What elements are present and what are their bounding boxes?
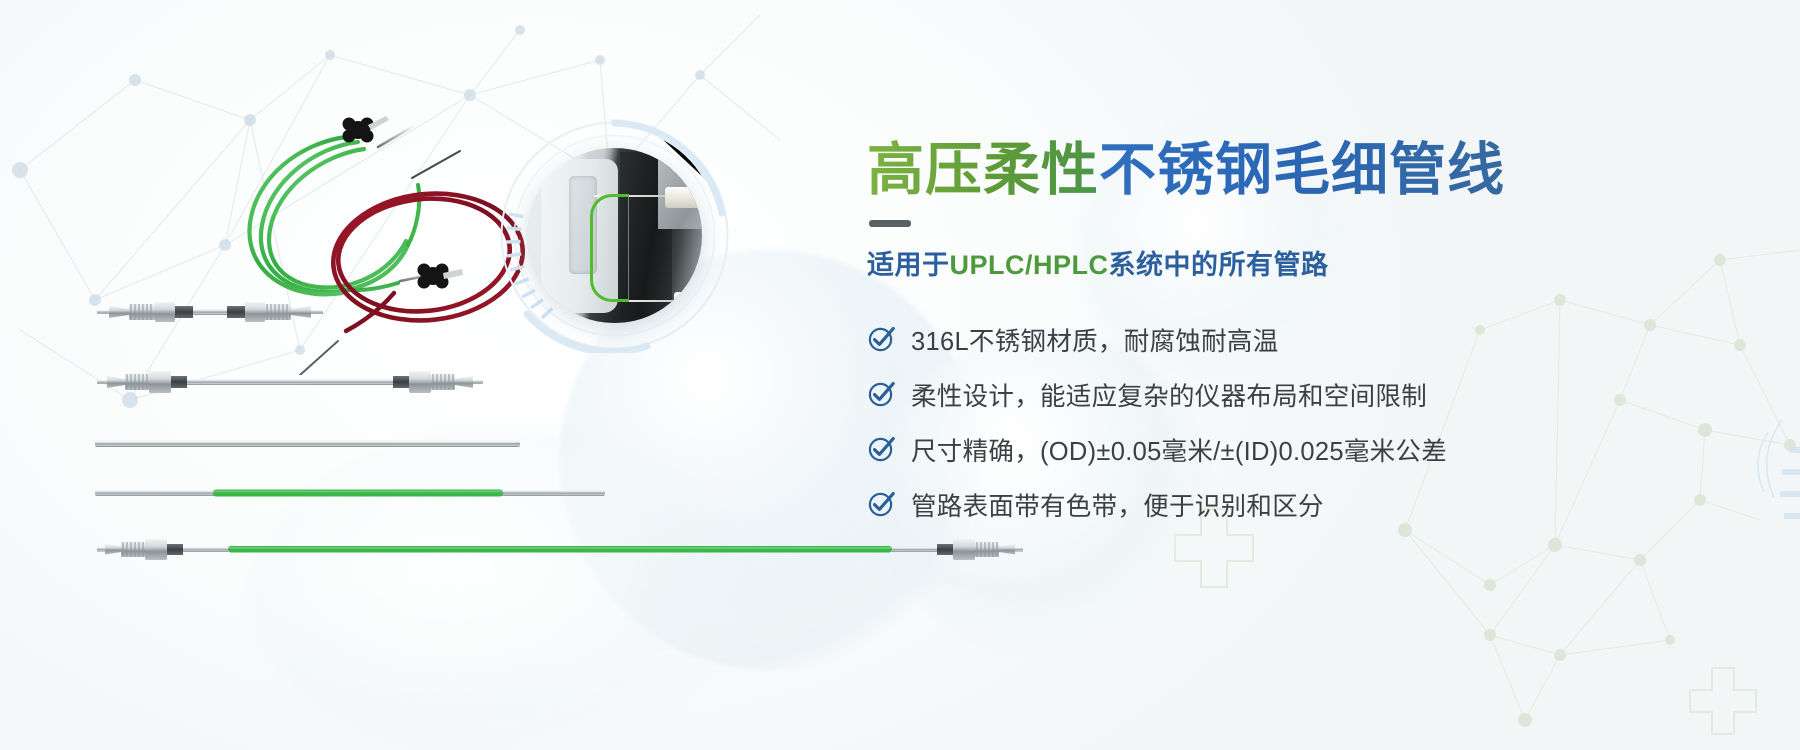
- feature-label: 柔性设计，能适应复杂的仪器布局和空间限制: [911, 376, 1427, 413]
- feature-list: 316L不锈钢材质，耐腐蚀耐高温 柔性设计，能适应复杂的仪器布局和空间限制: [867, 312, 1747, 532]
- check-circle-icon: [867, 433, 897, 463]
- tube-assembly-short-photo: [95, 292, 325, 332]
- feature-item: 316L不锈钢材质，耐腐蚀耐高温: [867, 312, 1747, 367]
- tube-with-green-band-photo: [95, 482, 605, 504]
- product-banner: 高压柔性不锈钢毛细管线 适用于UPLC/HPLC系统中的所有管路 316L不锈钢…: [0, 0, 1800, 750]
- feature-item: 管路表面带有色带，便于识别和区分: [867, 477, 1747, 532]
- feature-label: 管路表面带有色带，便于识别和区分: [911, 486, 1324, 523]
- feature-label: 尺寸精确，(OD)±0.05毫米/±(ID)0.025毫米公差: [911, 431, 1447, 468]
- check-circle-icon: [867, 323, 897, 353]
- tube-assembly-long-photo: [95, 362, 485, 402]
- subtitle-highlight: UPLC/HPLC: [950, 250, 1109, 280]
- tube-assembly-green-band-photo: [95, 528, 1025, 570]
- subtitle-suffix: 系统中的所有管路: [1109, 250, 1329, 280]
- instrument-photo: [527, 148, 702, 323]
- title-divider: [869, 220, 911, 227]
- feature-label: 316L不锈钢材质，耐腐蚀耐高温: [911, 321, 1279, 358]
- title-segment-green: 高压柔性: [867, 138, 1099, 202]
- bare-steel-tube-photo: [95, 432, 520, 454]
- banner-content: 高压柔性不锈钢毛细管线 适用于UPLC/HPLC系统中的所有管路 316L不锈钢…: [867, 140, 1747, 532]
- feature-item: 尺寸精确，(OD)±0.05毫米/±(ID)0.025毫米公差: [867, 422, 1747, 477]
- page-subtitle: 适用于UPLC/HPLC系统中的所有管路: [867, 243, 1747, 282]
- glass-blur-decoration: [250, 430, 750, 750]
- instrument-closeup-inset: [497, 118, 732, 353]
- check-circle-icon: [867, 488, 897, 518]
- page-title: 高压柔性不锈钢毛细管线: [867, 140, 1747, 202]
- feature-item: 柔性设计，能适应复杂的仪器布局和空间限制: [867, 367, 1747, 422]
- check-circle-icon: [867, 378, 897, 408]
- title-segment-blue: 不锈钢毛细管线: [1099, 138, 1505, 202]
- subtitle-prefix: 适用于: [867, 250, 950, 280]
